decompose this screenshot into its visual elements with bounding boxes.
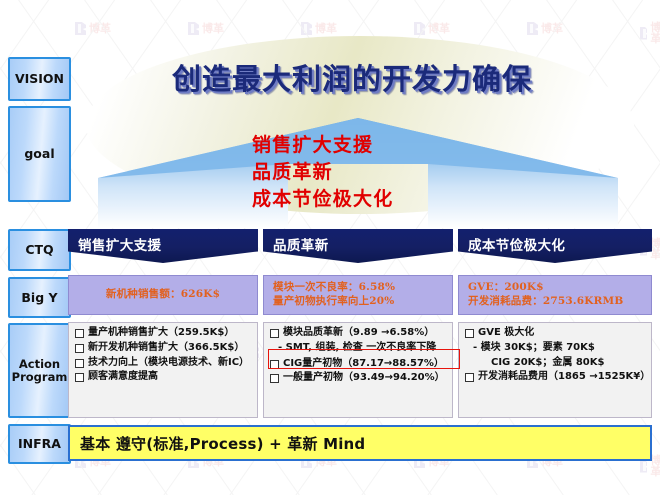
goal-item-1: 销售扩大支援 [252,132,393,159]
checkbox-icon[interactable] [270,374,279,383]
ctq-label-sales: 销售扩大支援 [78,234,161,254]
action-program-row[interactable]: 一般量产初物（93.49→94.20%） [270,372,452,384]
checkbox-icon[interactable] [465,373,474,382]
rail-item-infra[interactable]: INFRA [8,424,71,464]
bogo-logo-icon [414,22,425,35]
watermark-logo: 博革 [301,22,337,35]
page-title: 创造最大利润的开发力确保 [172,56,532,98]
ctq-banner-sales: 销售扩大支援 [68,229,258,263]
rail-item-goal[interactable]: goal [8,106,71,202]
watermark-label: 博革 [541,23,563,34]
bigy-cost-line-2: 开发消耗品费：2753.6KRMB [468,295,651,309]
checkbox-icon[interactable] [75,329,84,338]
goal-item-2: 品质革新 [252,159,393,186]
infra-label: 基本 遵守(标准,Process) + 革新 Mind [80,433,365,454]
watermark-label: 博革 [428,23,450,34]
rail-item-action-program[interactable]: ActionProgram [8,323,71,418]
action-program-row[interactable]: GVE 极大化 [465,327,651,339]
rail-label-bigy: Big Y [21,291,57,305]
goal-list: 销售扩大支援 品质革新 成本节俭极大化 [252,132,393,213]
rail-label-action-program: ActionProgram [12,358,68,383]
action-program-row-label: 模块品质革新（9.89 →6.58%） [283,327,434,339]
action-program-row-label: GVE 极大化 [478,327,534,339]
rail-label-ctq: CTQ [25,243,53,257]
action-program-row[interactable]: CIG量产初物（87.17→88.57%） [270,358,452,370]
action-program-row[interactable]: 技术力向上（模块电源技术、新IC） [75,357,257,369]
bigy-box-cost: GVE：200K$ 开发消耗品费：2753.6KRMB [458,275,652,315]
watermark-logo: 博革 [414,22,450,35]
bigy-box-quality: 模块一次不良率：6.58% 量产初物执行率向上20% [263,275,453,315]
watermark-label: 博革 [202,23,224,34]
bogo-logo-icon [640,27,647,40]
action-program-row-label: CIG 20K$；金属 80K$ [491,357,604,369]
action-program-row[interactable]: 新开发机种销售扩大（366.5K$） [75,342,257,354]
bogo-logo-icon [527,22,538,35]
action-program-row-label: 顾客满意度提高 [88,371,158,383]
watermark-grid-line [0,0,1,495]
ctq-label-quality: 品质革新 [273,234,329,254]
action-program-row[interactable]: 量产机种销售扩大（259.5K$） [75,327,257,339]
action-program-row-label: 量产机种销售扩大（259.5K$） [88,327,234,339]
action-program-row[interactable]: 顾客满意度提高 [75,371,257,383]
watermark-logo: 博革 [527,22,563,35]
action-program-row-label: 技术力向上（模块电源技术、新IC） [88,357,249,369]
watermark-label: 博革 [89,23,111,34]
rail-label-goal: goal [24,147,54,161]
checkbox-icon[interactable] [270,360,279,369]
watermark-logo: 博革 [188,22,224,35]
action-program-row-label: - 模块 30K$；要素 70K$ [473,342,595,354]
bogo-logo-icon [640,460,647,473]
rail-label-infra: INFRA [18,437,61,451]
action-program-box-sales: 量产机种销售扩大（259.5K$）新开发机种销售扩大（366.5K$）技术力向上… [68,322,258,418]
infra-bar: 基本 遵守(标准,Process) + 革新 Mind [68,425,652,461]
ctq-label-cost: 成本节俭极大化 [468,234,565,254]
bigy-sales-line-1: 新机种销售额：626K$ [106,288,220,302]
rail-label-vision: VISION [15,72,64,86]
goal-item-3: 成本节俭极大化 [252,186,393,213]
action-program-row-label: CIG量产初物（87.17→88.57%） [283,358,444,370]
action-program-row[interactable]: CIG 20K$；金属 80K$ [465,357,651,369]
action-program-row-label: 一般量产初物（93.49→94.20%） [283,372,445,384]
action-program-row[interactable]: - 模块 30K$；要素 70K$ [465,342,651,354]
bigy-box-sales: 新机种销售额：626K$ [68,275,258,315]
action-program-row-label: 新开发机种销售扩大（366.5K$） [88,342,244,354]
checkbox-icon[interactable] [75,359,84,368]
bogo-logo-icon [75,22,86,35]
rail-item-vision[interactable]: VISION [8,57,71,101]
bigy-quality-line-1: 模块一次不良率：6.58% [273,281,452,295]
action-program-row-label: 开发消耗品费用（1865 →1525K¥） [478,371,650,383]
watermark-label: 博革 [315,23,337,34]
action-program-box-cost: GVE 极大化- 模块 30K$；要素 70K$CIG 20K$；金属 80K$… [458,322,652,418]
rail-item-bigy[interactable]: Big Y [8,277,71,318]
checkbox-icon[interactable] [270,329,279,338]
rail-item-ctq[interactable]: CTQ [8,229,71,271]
bigy-quality-line-2: 量产初物执行率向上20% [273,295,452,309]
watermark-label: 博革 [650,22,660,44]
action-program-row[interactable]: 开发消耗品费用（1865 →1525K¥） [465,371,651,383]
action-program-row[interactable]: - SMT, 组装, 检查 一次不良率下降 [270,342,452,354]
checkbox-icon[interactable] [465,329,474,338]
bigy-cost-line-1: GVE：200K$ [468,281,651,295]
action-program-box-quality: 模块品质革新（9.89 →6.58%）- SMT, 组装, 检查 一次不良率下降… [263,322,453,418]
slide-canvas: 博革博革博革博革博革博革博革博革博革博革博革博革博革博革博革博革博革博革博革博革… [0,0,660,495]
bogo-logo-icon [301,22,312,35]
checkbox-icon[interactable] [75,373,84,382]
watermark-logo: 博革 [75,22,111,35]
bogo-logo-icon [188,22,199,35]
watermark-logo: 博革 [640,22,660,44]
ctq-banner-cost: 成本节俭极大化 [458,229,652,263]
action-program-row[interactable]: 模块品质革新（9.89 →6.58%） [270,327,452,339]
action-program-row-label: - SMT, 组装, 检查 一次不良率下降 [278,342,436,354]
ctq-banner-quality: 品质革新 [263,229,453,263]
checkbox-icon[interactable] [75,344,84,353]
